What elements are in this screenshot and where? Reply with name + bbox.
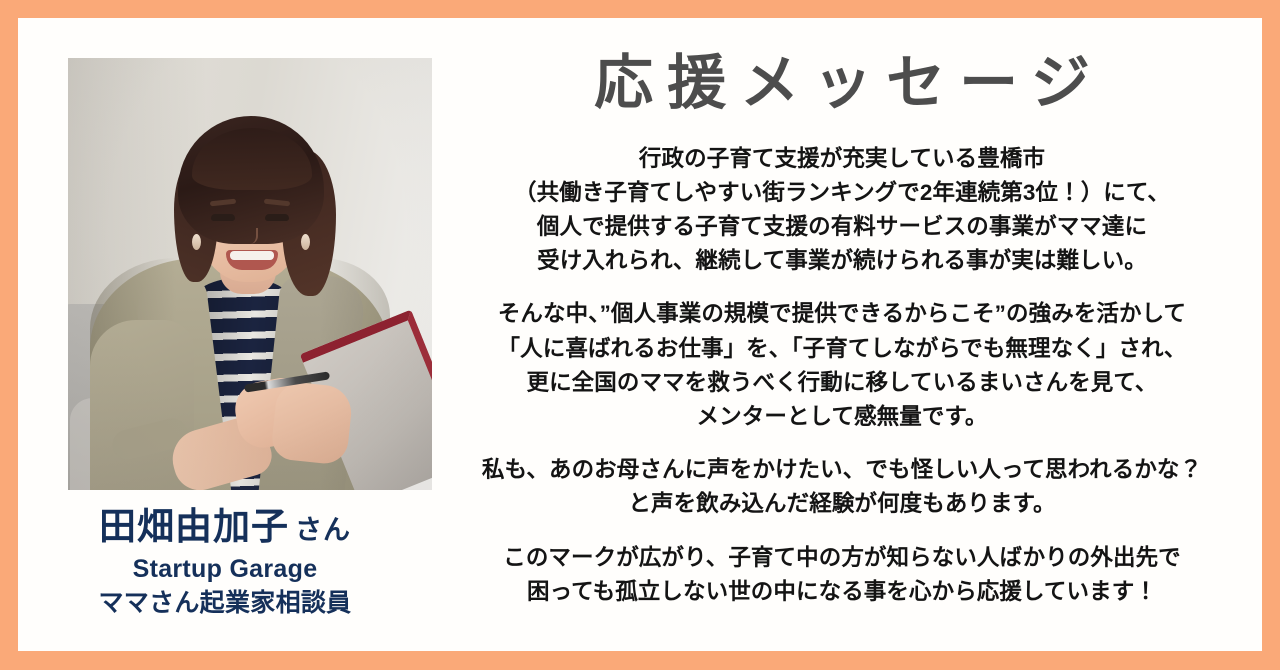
message-line: 行政の子育て支援が充実している豊橋市 (440, 142, 1244, 176)
poster-root: 田畑由加子さん Startup Garage ママさん起業家相談員 応援メッセー… (0, 0, 1280, 670)
photo-vignette (68, 58, 432, 490)
message-column: 応援メッセージ 行政の子育て支援が充実している豊橋市（共働き子育てしやすい街ラン… (432, 18, 1262, 651)
message-paragraph: 行政の子育て支援が充実している豊橋市（共働き子育てしやすい街ランキングで2年連続… (440, 142, 1244, 279)
message-line: 更に全国のママを救うべく行動に移しているまいさんを見て、 (440, 366, 1244, 400)
poster-panel: 田畑由加子さん Startup Garage ママさん起業家相談員 応援メッセー… (18, 18, 1262, 651)
person-role: ママさん起業家相談員 (18, 587, 432, 620)
message-line: そんな中、”個人事業の規模で提供できるからこそ”の強みを活かして (440, 297, 1244, 331)
portrait-photo (68, 58, 432, 490)
message-line: と声を飲み込んだ経験が何度もあります。 (440, 487, 1244, 521)
person-name-text: 田畑由加子 (99, 506, 289, 547)
message-title: 応援メッセージ (440, 52, 1244, 116)
profile-name-block: 田畑由加子さん Startup Garage ママさん起業家相談員 (18, 506, 432, 620)
message-paragraph: このマークが広がり、子育て中の方が知らない人ばかりの外出先で困っても孤立しない世… (440, 541, 1244, 609)
message-line: 「人に喜ばれるお仕事」を、「子育てしながらでも無理なく」され、 (440, 332, 1244, 366)
person-organization: Startup Garage (18, 553, 432, 586)
message-line: 困っても孤立しない世の中になる事を心から応援しています！ (440, 575, 1244, 609)
person-name-honorific: さん (295, 515, 351, 545)
message-line: メンターとして感無量です。 (440, 400, 1244, 434)
message-line: 私も、あのお母さんに声をかけたい、でも怪しい人って思われるかな？ (440, 453, 1244, 487)
message-line: 受け入れられ、継続して事業が続けられる事が実は難しい。 (440, 244, 1244, 278)
person-name: 田畑由加子さん (18, 506, 432, 549)
message-line: このマークが広がり、子育て中の方が知らない人ばかりの外出先で (440, 541, 1244, 575)
message-line: （共働き子育てしやすい街ランキングで2年連続第3位！）にて、 (440, 176, 1244, 210)
message-paragraph: 私も、あのお母さんに声をかけたい、でも怪しい人って思われるかな？と声を飲み込んだ… (440, 453, 1244, 521)
message-body: 行政の子育て支援が充実している豊橋市（共働き子育てしやすい街ランキングで2年連続… (440, 142, 1244, 609)
message-paragraph: そんな中、”個人事業の規模で提供できるからこそ”の強みを活かして「人に喜ばれるお… (440, 297, 1244, 434)
profile-column: 田畑由加子さん Startup Garage ママさん起業家相談員 (18, 18, 432, 651)
message-line: 個人で提供する子育て支援の有料サービスの事業がママ達に (440, 210, 1244, 244)
